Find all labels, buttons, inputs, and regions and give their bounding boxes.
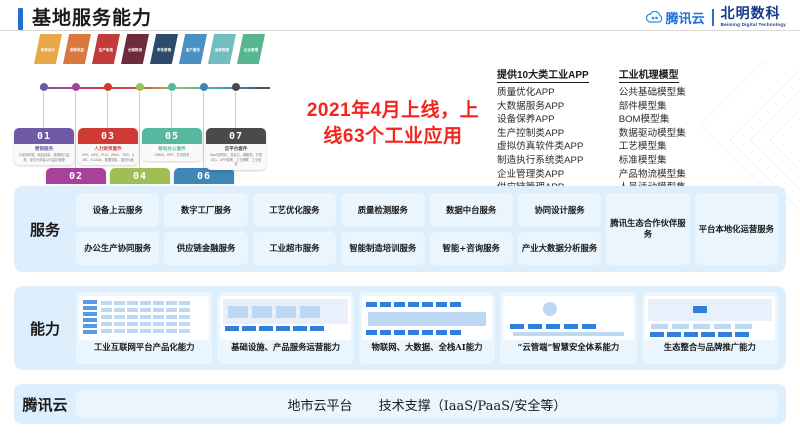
model-item: 数据驱动模型集 (619, 127, 686, 141)
industrial-app-list-header: 提供10大类工业APP (497, 66, 589, 83)
capability-label: 能力 (14, 318, 76, 339)
card-header: 07 (206, 128, 266, 144)
hexagon-label: 运营管理 (215, 47, 229, 52)
capability-card[interactable]: “云管端”智慧安全体系能力 (500, 292, 636, 364)
card-number: 05 (165, 131, 179, 142)
model-item: BOM模型集 (619, 113, 686, 127)
timeline-node-07 (232, 83, 240, 91)
card-title: 云平台套件 (206, 146, 266, 152)
app-item: 制造执行系统类APP (497, 154, 589, 168)
capability-thumbnail (220, 296, 350, 340)
services-label: 服务 (14, 219, 76, 240)
service-cell[interactable]: 智能制造培训服务 (341, 232, 424, 266)
card-header: 04 (110, 168, 170, 184)
services-panel: 服务 设备上云服务办公生产协同服务数字工厂服务供应链金融服务工艺优化服务工业超市… (14, 186, 786, 272)
partner-logo: 北明数科 Beiming Digital Technology (721, 7, 786, 28)
model-item: 部件模型集 (619, 100, 686, 114)
hexagon-label: 企业管理 (244, 47, 258, 52)
model-item: 工艺模型集 (619, 140, 686, 154)
service-cell[interactable]: 数据中台服务 (430, 193, 513, 227)
capability-thumbnail (79, 296, 209, 340)
app-item: 设备保养APP (497, 113, 589, 127)
tencent-cloud-logo: 腾讯云 (646, 8, 705, 27)
service-cell[interactable]: 腾讯生态合作伙伴服务 (606, 193, 689, 265)
card-number: 03 (101, 131, 115, 142)
service-cell[interactable]: 产业大数据分析服务 (518, 232, 601, 266)
brand-divider (712, 9, 714, 26)
service-column: 数字工厂服务供应链金融服务 (164, 193, 247, 265)
capability-card-01[interactable]: 01营销服务计量采样型、精益改善、营销执行监督、全员大质量以可监控管理 (14, 128, 74, 165)
brand-lockup: 腾讯云 北明数科 Beiming Digital Technology (646, 7, 786, 28)
service-column: 设备上云服务办公生产协同服务 (76, 193, 159, 265)
card-header: 01 (14, 128, 74, 144)
capability-caption: 基础设施、产品服务运营能力 (231, 343, 340, 353)
highlight-text: 2021年4月上线，上线63个工业应用 (298, 98, 488, 149)
timeline-stem (203, 92, 204, 168)
hexagon-3: 生产制造 (92, 34, 120, 64)
hexagon-2: 采购供应 (63, 34, 91, 64)
capability-caption: “云管端”智慧安全体系能力 (518, 343, 620, 353)
capability-caption: 生态整合与品牌推广能力 (664, 343, 756, 353)
model-item: 产品物流模型集 (619, 168, 686, 182)
card-header: 06 (174, 168, 234, 184)
card-title: 营销服务 (14, 146, 74, 152)
hexagon-1: 研发设计 (34, 34, 62, 64)
hexagon-8: 企业管理 (237, 34, 265, 64)
service-cell[interactable]: 设备上云服务 (76, 193, 159, 227)
card-number: 01 (37, 131, 51, 142)
mechanism-model-list: 工业机理模型 公共基础模型集部件模型集BOM模型集数据驱动模型集工艺模型集标准模… (619, 66, 686, 195)
app-item: 企业管理类APP (497, 168, 589, 182)
service-cell[interactable]: 智能+咨询服务 (430, 232, 513, 266)
service-column: 工艺优化服务工业超市服务 (253, 193, 336, 265)
service-column-tall: 平台本地化运营服务 (695, 193, 778, 265)
capability-caption: 工业互联网平台产品化能力 (94, 343, 195, 353)
hexagon-5: 市场营销 (150, 34, 178, 64)
slide-root: 基地服务能力 腾讯云 北明数科 Beiming Digital Technolo… (0, 0, 800, 435)
model-item: 公共基础模型集 (619, 86, 686, 100)
capability-card-07[interactable]: 07云平台套件SaaS协同化、混合云、微服务、开发中心、APP部署、工业物联、工… (206, 128, 266, 170)
hexagon-label: 客户服务 (186, 47, 200, 52)
capability-panel: 能力 工业互联网平台产品化能力基础设施、产品服务运营能力物联网、大数据、全栈AI… (14, 286, 786, 370)
service-cell[interactable]: 质量检测服务 (341, 193, 424, 227)
timeline-node-05 (168, 83, 176, 91)
value-chain-hexagons: 研发设计采购供应生产制造仓储物流市场营销客户服务运营管理企业管理 (34, 34, 265, 64)
service-column: 协同设计服务产业大数据分析服务 (518, 193, 601, 265)
card-title: 人力财资套件 (78, 146, 138, 152)
timeline-node-03 (104, 83, 112, 91)
timeline-stem (43, 92, 44, 128)
capability-card[interactable]: 物联网、大数据、全栈AI能力 (359, 292, 495, 364)
service-cell[interactable]: 协同设计服务 (518, 193, 601, 227)
service-column: 质量检测服务智能制造培训服务 (341, 193, 424, 265)
cloud-icon (646, 11, 663, 24)
service-cell[interactable]: 工业超市服务 (253, 232, 336, 266)
timeline-stem (235, 92, 236, 128)
capability-caption: 物联网、大数据、全栈AI能力 (372, 343, 483, 353)
title-accent-bar (18, 8, 23, 30)
hexagon-4: 仓储物流 (121, 34, 149, 64)
capability-card[interactable]: 基础设施、产品服务运营能力 (217, 292, 353, 364)
page-title: 基地服务能力 (18, 6, 152, 32)
hexagon-label: 研发设计 (41, 47, 55, 52)
app-item: 生产控制类APP (497, 127, 589, 141)
top-illustration: 研发设计采购供应生产制造仓储物流市场营销客户服务运营管理企业管理 01营销服务计… (0, 30, 800, 182)
timeline-stem (75, 92, 76, 168)
capability-thumbnail (645, 296, 775, 340)
mechanism-model-list-header: 工业机理模型 (619, 66, 679, 83)
hexagon-7: 运营管理 (208, 34, 236, 64)
timeline-stem (139, 92, 140, 168)
app-item: 质量优化APP (497, 86, 589, 100)
service-column-tall: 腾讯生态合作伙伴服务 (606, 193, 689, 265)
service-cell[interactable]: 平台本地化运营服务 (695, 193, 778, 265)
capability-card[interactable]: 生态整合与品牌推广能力 (642, 292, 778, 364)
timeline-stem (171, 92, 172, 128)
card-header: 03 (78, 128, 138, 144)
foundation-panel: 腾讯云 地市云平台技术支撑（IaaS/PaaS/安全等） (14, 384, 786, 424)
timeline-node-06 (200, 83, 208, 91)
capability-card[interactable]: 工业互联网平台产品化能力 (76, 292, 212, 364)
timeline-stem (107, 92, 108, 128)
card-header: 05 (142, 128, 202, 144)
service-column: 数据中台服务智能+咨询服务 (430, 193, 513, 265)
app-item: 虚拟仿真软件类APP (497, 140, 589, 154)
hexagon-label: 生产制造 (99, 47, 113, 52)
service-cell[interactable]: 供应链金融服务 (164, 232, 247, 266)
card-number: 04 (133, 171, 147, 182)
foundation-item[interactable]: 技术支撑（IaaS/PaaS/安全等） (379, 395, 567, 414)
hexagon-label: 采购供应 (70, 47, 84, 52)
timeline-axis (40, 86, 270, 89)
capability-card-03[interactable]: 03人力财资套件APS、MES、PLM、WMS、TMS、QMS、SCADA、数据… (78, 128, 138, 165)
timeline-node-01 (40, 83, 48, 91)
industrial-app-list: 提供10大类工业APP 质量优化APP大数据服务APP设备保养APP生产控制类A… (497, 66, 589, 195)
card-number: 02 (69, 171, 83, 182)
service-cell[interactable]: 数字工厂服务 (164, 193, 247, 227)
foundation-items: 地市云平台技术支撑（IaaS/PaaS/安全等） (76, 390, 778, 418)
services-grid: 设备上云服务办公生产协同服务数字工厂服务供应链金融服务工艺优化服务工业超市服务质… (76, 193, 786, 265)
card-desc: 计量采样型、精益改善、营销执行监督、全员大质量以可监控管理 (14, 153, 74, 165)
capability-thumbnail (362, 296, 492, 340)
service-cell[interactable]: 办公生产协同服务 (76, 232, 159, 266)
card-number: 07 (229, 131, 243, 142)
capability-card-05[interactable]: 05移动办公套件HRMS、ERP、共享财务 (142, 128, 202, 161)
tencent-cloud-text: 腾讯云 (666, 8, 705, 27)
timeline-node-04 (136, 83, 144, 91)
partner-name-en: Beiming Digital Technology (721, 23, 786, 28)
card-desc: SaaS协同化、混合云、微服务、开发中心、APP部署、工业物联、工业安全 (206, 153, 266, 170)
card-number: 06 (197, 171, 211, 182)
partner-name-cn: 北明数科 (721, 7, 786, 21)
card-desc: HRMS、ERP、共享财务 (142, 153, 202, 161)
service-cell[interactable]: 工艺优化服务 (253, 193, 336, 227)
foundation-item[interactable]: 地市云平台 (288, 395, 353, 414)
page-title-text: 基地服务能力 (32, 8, 152, 30)
card-desc: APS、MES、PLM、WMS、TMS、QMS、SCADA、数据采集、通关约速 (78, 153, 138, 165)
capability-grid: 工业互联网平台产品化能力基础设施、产品服务运营能力物联网、大数据、全栈AI能力“… (76, 292, 786, 364)
app-model-lists: 提供10大类工业APP 质量优化APP大数据服务APP设备保养APP生产控制类A… (497, 66, 686, 195)
app-item: 大数据服务APP (497, 100, 589, 114)
timeline-node-02 (72, 83, 80, 91)
model-item: 标准模型集 (619, 154, 686, 168)
foundation-label: 腾讯云 (14, 394, 76, 415)
hexagon-6: 客户服务 (179, 34, 207, 64)
hexagon-label: 仓储物流 (128, 47, 142, 52)
card-title: 移动办公套件 (142, 146, 202, 152)
capability-thumbnail (503, 296, 633, 340)
card-header: 02 (46, 168, 106, 184)
hexagon-label: 市场营销 (157, 47, 171, 52)
